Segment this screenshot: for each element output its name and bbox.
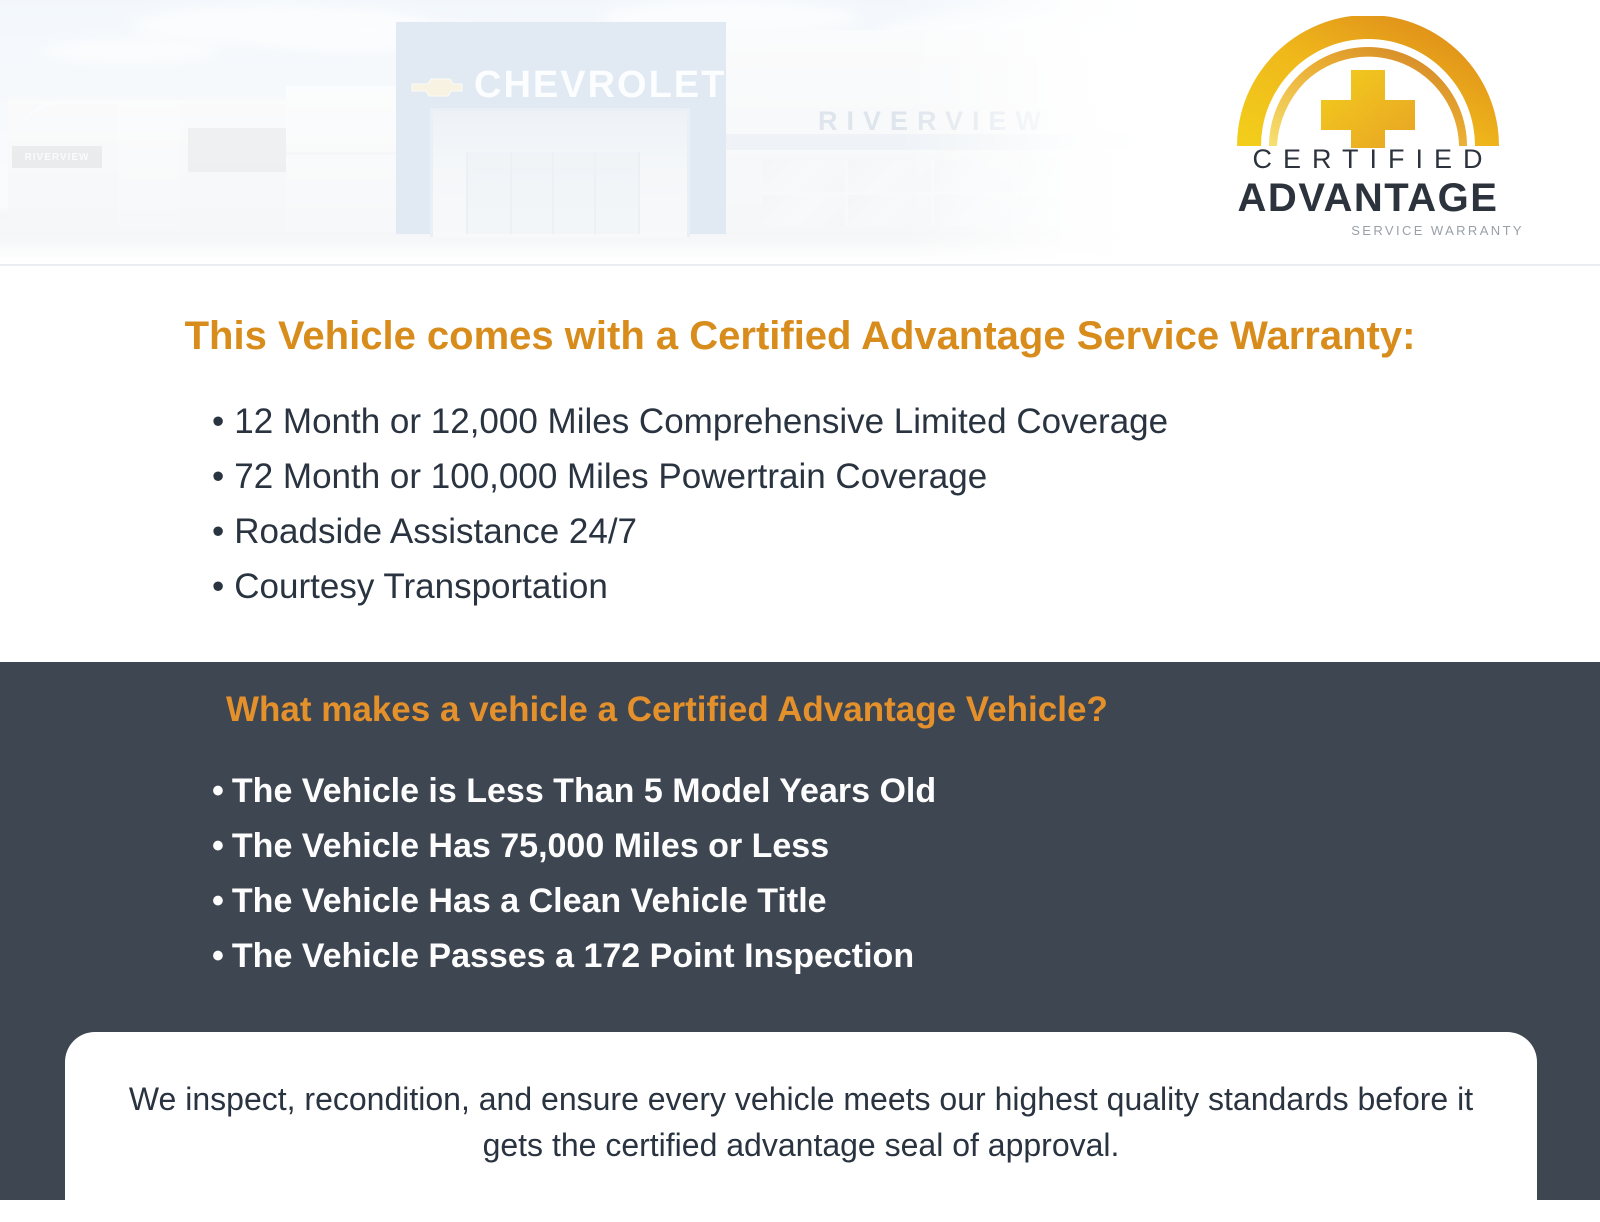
logo-arc-plus-icon — [1223, 16, 1513, 148]
tower-entrance-doors — [466, 152, 640, 234]
list-item: •The Vehicle Has 75,000 Miles or Less — [212, 819, 936, 874]
chevrolet-sign-text: CHEVROLET — [474, 64, 726, 107]
list-item: •The Vehicle Passes a 172 Point Inspecti… — [212, 929, 936, 984]
list-item: •Courtesy Transportation — [212, 559, 1168, 614]
left-building-pillar — [118, 100, 180, 230]
bullet-icon: • — [212, 402, 224, 441]
list-item-label: The Vehicle Has 75,000 Miles or Less — [232, 827, 829, 865]
riverview-sign-text: RIVERVIEW — [818, 106, 1050, 137]
logo-advantage-text: ADVANTAGE — [1208, 176, 1528, 221]
bullet-icon: • — [212, 457, 224, 496]
qualification-criteria-list: •The Vehicle is Less Than 5 Model Years … — [212, 764, 936, 984]
list-item: •The Vehicle Has a Clean Vehicle Title — [212, 874, 936, 929]
list-item: •The Vehicle is Less Than 5 Model Years … — [212, 764, 936, 819]
bullet-icon: • — [212, 512, 224, 551]
list-item-label: The Vehicle Has a Clean Vehicle Title — [232, 882, 827, 920]
list-item-label: 12 Month or 12,000 Miles Comprehensive L… — [234, 402, 1168, 441]
bullet-icon: • — [212, 772, 224, 810]
list-item: •Roadside Assistance 24/7 — [212, 504, 1168, 559]
cloud-shape — [40, 38, 220, 64]
list-item-label: 72 Month or 100,000 Miles Powertrain Cov… — [234, 457, 987, 496]
logo-certified-text: CERTIFIED — [1208, 144, 1528, 175]
quality-statement-text: We inspect, recondition, and ensure ever… — [125, 1076, 1477, 1168]
list-item-label: The Vehicle is Less Than 5 Model Years O… — [232, 772, 936, 810]
warranty-section: This Vehicle comes with a Certified Adva… — [0, 266, 1600, 662]
certified-advantage-logo: CERTIFIED ADVANTAGE SERVICE WARRANTY — [1208, 16, 1528, 244]
list-item-label: Roadside Assistance 24/7 — [234, 512, 637, 551]
qualification-heading: What makes a vehicle a Certified Advanta… — [226, 690, 1108, 730]
list-item: •12 Month or 12,000 Miles Comprehensive … — [212, 394, 1168, 449]
header-banner: RIVERVIEW RIVERVIEW CHEVROLET — [0, 0, 1600, 266]
chevrolet-tower: CHEVROLET — [396, 22, 726, 234]
warranty-benefit-list: •12 Month or 12,000 Miles Comprehensive … — [212, 394, 1168, 614]
list-item-label: Courtesy Transportation — [234, 567, 608, 606]
left-building-sign: RIVERVIEW — [12, 146, 102, 168]
bullet-icon: • — [212, 827, 224, 865]
logo-service-warranty-text: SERVICE WARRANTY — [1208, 223, 1528, 238]
bullet-icon: • — [212, 937, 224, 975]
bullet-icon: • — [212, 567, 224, 606]
dealership-photo: RIVERVIEW RIVERVIEW CHEVROLET — [0, 0, 1160, 266]
chevrolet-bowtie-icon — [410, 76, 464, 98]
quality-statement-card: We inspect, recondition, and ensure ever… — [65, 1032, 1537, 1222]
list-item-label: The Vehicle Passes a 172 Point Inspectio… — [232, 937, 914, 975]
bullet-icon: • — [212, 882, 224, 920]
warranty-heading: This Vehicle comes with a Certified Adva… — [0, 314, 1600, 359]
right-building-windows — [762, 160, 1102, 226]
list-item: •72 Month or 100,000 Miles Powertrain Co… — [212, 449, 1168, 504]
